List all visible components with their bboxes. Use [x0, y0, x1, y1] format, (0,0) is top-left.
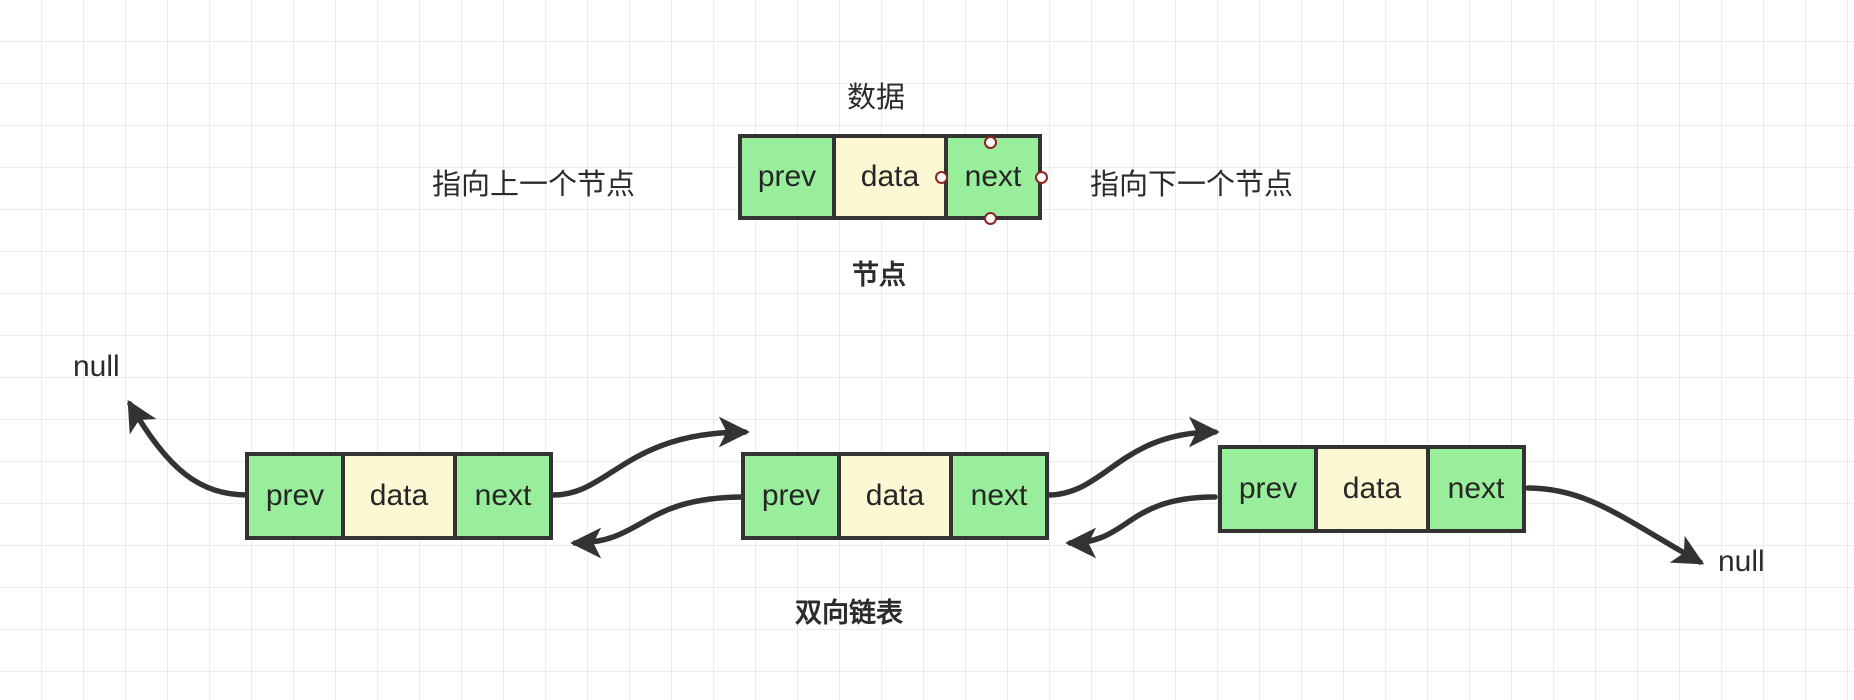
detail-node-cell-next[interactable]: next: [948, 138, 1038, 216]
detail-node-cell-data[interactable]: data: [832, 138, 948, 216]
chain-node-0-cell-next[interactable]: next: [457, 456, 549, 536]
chain-node-0-cell-data[interactable]: data: [341, 456, 457, 536]
chain-node-2-cell-data[interactable]: data: [1314, 449, 1430, 529]
chain-node-0[interactable]: prev data next: [245, 452, 553, 540]
diagram-canvas: 数据 指向上一个节点 指向下一个节点 prev data next 节点 nul…: [0, 0, 1854, 700]
arrow-node2-prev-to-node1: [1070, 497, 1215, 543]
connector-layer: [0, 0, 1854, 700]
null-label-left: null: [73, 352, 120, 382]
arrow-tail-next-to-null: [1528, 488, 1700, 562]
chain-node-2[interactable]: prev data next: [1218, 445, 1526, 533]
arrow-node1-next-to-node2: [1048, 432, 1215, 495]
arrow-node0-next-to-node1: [553, 432, 745, 495]
chain-node-2-cell-next[interactable]: next: [1430, 449, 1522, 529]
arrow-head-prev-to-null: [130, 404, 248, 495]
detail-node-cell-prev[interactable]: prev: [742, 138, 832, 216]
selection-handle-left-icon[interactable]: [935, 171, 948, 184]
null-label-right: null: [1718, 547, 1765, 577]
next-annotation-label: 指向下一个节点: [1090, 171, 1293, 200]
chain-node-1-cell-data[interactable]: data: [837, 456, 953, 536]
selection-handle-top-icon[interactable]: [984, 136, 997, 149]
prev-annotation-label: 指向上一个节点: [432, 171, 635, 200]
detail-node-caption: 节点: [852, 262, 906, 289]
selection-handle-bottom-icon[interactable]: [984, 212, 997, 225]
chain-node-1-cell-prev[interactable]: prev: [745, 456, 837, 536]
chain-node-1[interactable]: prev data next: [741, 452, 1049, 540]
detail-node[interactable]: prev data next: [738, 134, 1042, 220]
chain-node-0-cell-prev[interactable]: prev: [249, 456, 341, 536]
chain-node-1-cell-next[interactable]: next: [953, 456, 1045, 536]
arrow-node1-prev-to-node0: [575, 497, 745, 543]
selection-handle-right-icon[interactable]: [1035, 171, 1048, 184]
chain-caption: 双向链表: [795, 600, 903, 627]
chain-node-2-cell-prev[interactable]: prev: [1222, 449, 1314, 529]
data-annotation-label: 数据: [847, 84, 905, 113]
